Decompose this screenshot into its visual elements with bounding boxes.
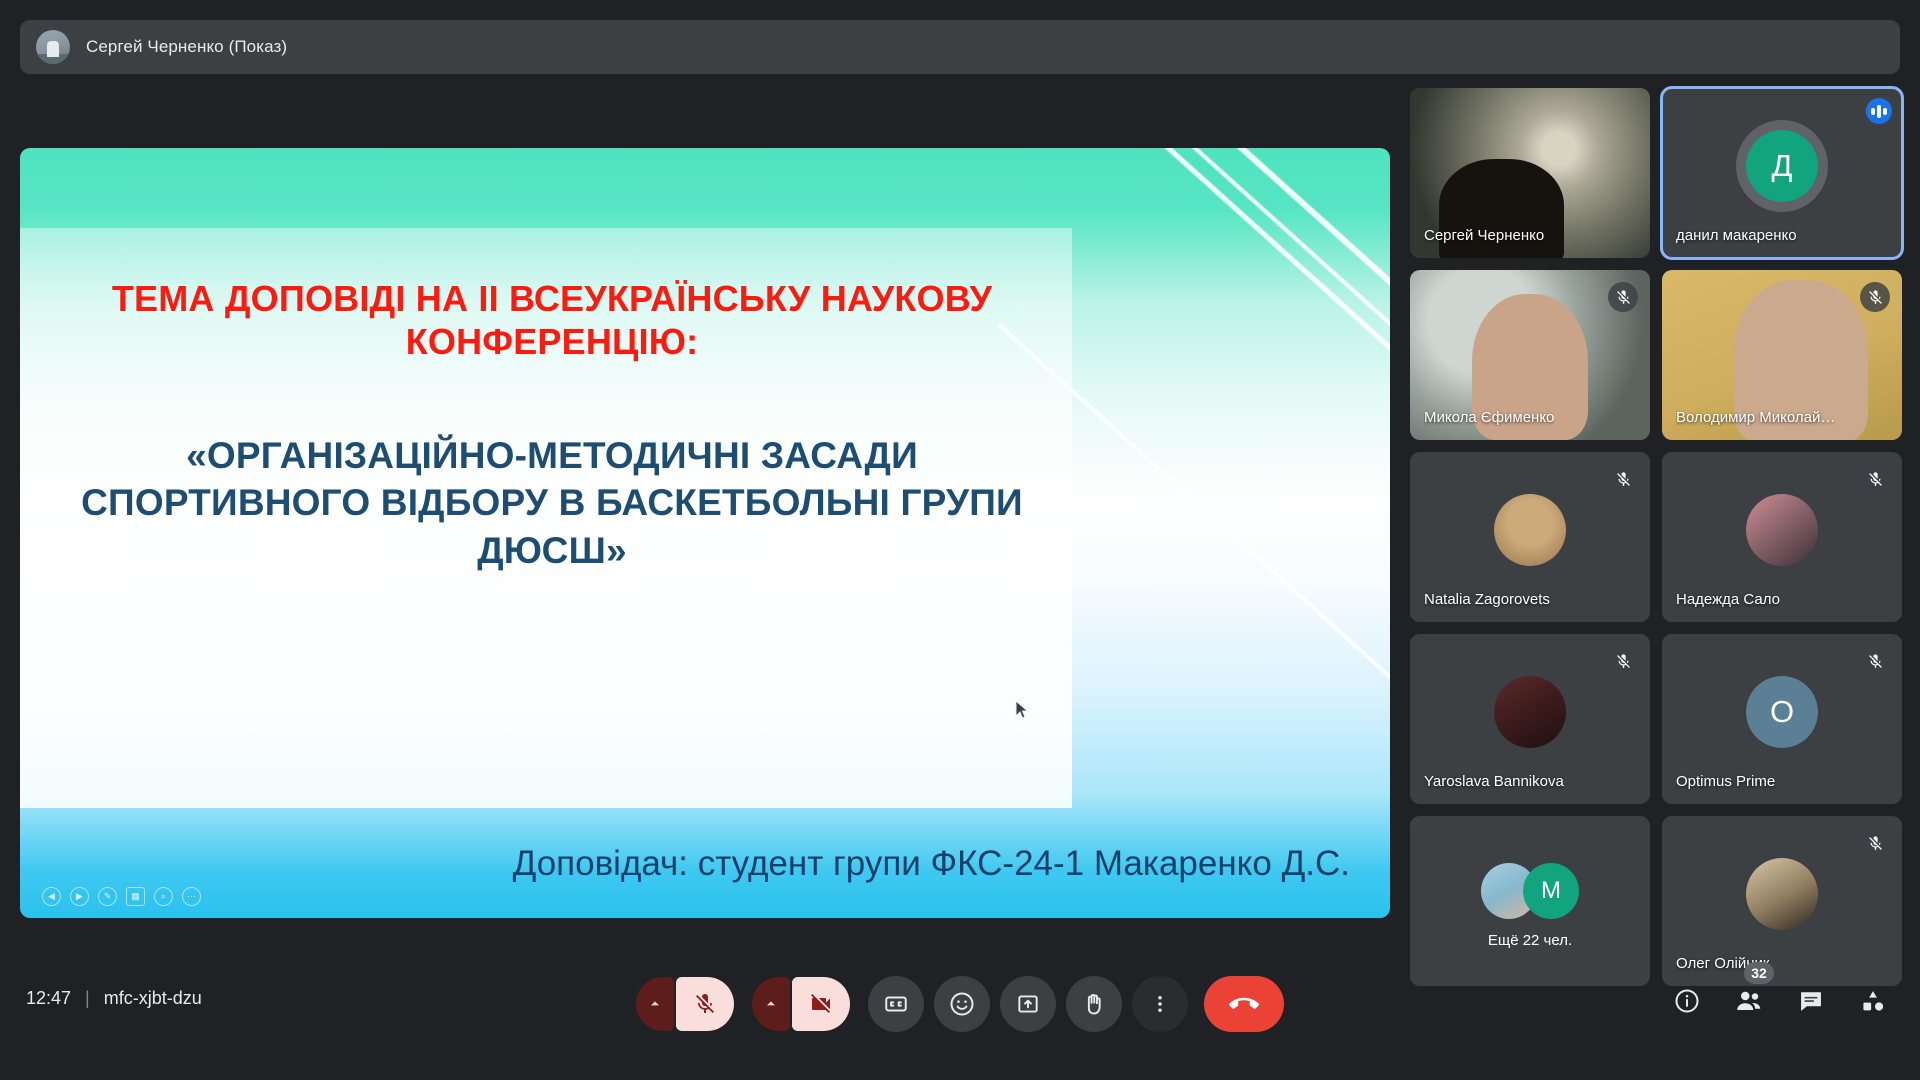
- avatar-initial: M: [1523, 863, 1579, 919]
- people-icon[interactable]: 32: [1732, 984, 1766, 1018]
- mouse-cursor-icon: [1015, 700, 1029, 720]
- end-call-button[interactable]: [1204, 976, 1284, 1032]
- camera-control-group: [752, 977, 850, 1031]
- avatar-stack: M: [1481, 863, 1579, 919]
- avatar: [1746, 494, 1818, 566]
- mic-off-icon: [1608, 646, 1638, 676]
- microphone-control-group: [636, 977, 734, 1031]
- mic-off-icon: [1860, 282, 1890, 312]
- reactions-button[interactable]: [934, 976, 990, 1032]
- more-options-button[interactable]: ⋯: [182, 887, 201, 906]
- call-controls: [636, 976, 1284, 1032]
- zoom-tool-button[interactable]: ⌕: [154, 887, 173, 906]
- participant-tile-active-speaker[interactable]: Д данил макаренко: [1662, 88, 1902, 258]
- shared-screen-stage[interactable]: ТЕМА ДОПОВІДІ НА II ВСЕУКРАЇНСЬКУ НАУКОВ…: [20, 148, 1390, 918]
- camera-options-chevron-icon[interactable]: [752, 977, 790, 1031]
- chat-icon[interactable]: [1794, 984, 1828, 1018]
- mic-options-chevron-icon[interactable]: [636, 977, 674, 1031]
- participant-name: Yaroslava Bannikova: [1424, 773, 1564, 790]
- presenting-label: Сергей Черненко (Показ): [86, 37, 287, 57]
- participant-name: Микола Єфименко: [1424, 409, 1554, 426]
- participant-name: данил макаренко: [1676, 227, 1797, 244]
- avatar-initial: O: [1746, 676, 1818, 748]
- captions-button[interactable]: [868, 976, 924, 1032]
- next-slide-button[interactable]: ▶: [70, 887, 89, 906]
- slide-title-navy: «ОРГАНІЗАЦІЙНО-МЕТОДИЧНІ ЗАСАДИ СПОРТИВН…: [62, 432, 1042, 574]
- participant-tile[interactable]: O Optimus Prime: [1662, 634, 1902, 804]
- participant-grid: Сергей Черненко Д данил макаренко Микола…: [1410, 88, 1902, 986]
- google-meet-window: Сергей Черненко (Показ) ТЕМА ДОПОВІДІ НА…: [0, 0, 1920, 1080]
- participant-tile[interactable]: Сергей Черненко: [1410, 88, 1650, 258]
- participant-tile[interactable]: Natalia Zagorovets: [1410, 452, 1650, 622]
- presentation-slide: ТЕМА ДОПОВІДІ НА II ВСЕУКРАЇНСЬКУ НАУКОВ…: [20, 148, 1390, 918]
- participant-name: Optimus Prime: [1676, 773, 1775, 790]
- avatar-initial: Д: [1746, 130, 1818, 202]
- prev-slide-button[interactable]: ◀: [42, 887, 61, 906]
- participant-name: Natalia Zagorovets: [1424, 591, 1550, 608]
- participant-name: Володимир Миколай…: [1676, 409, 1835, 426]
- present-screen-button[interactable]: [1000, 976, 1056, 1032]
- meeting-code-label: mfc-xjbt-dzu: [104, 988, 202, 1009]
- participant-tile[interactable]: Yaroslava Bannikova: [1410, 634, 1650, 804]
- camera-toggle-button[interactable]: [792, 977, 850, 1031]
- participant-tile[interactable]: Микола Єфименко: [1410, 270, 1650, 440]
- all-slides-button[interactable]: ▦: [126, 887, 145, 906]
- participant-tile[interactable]: Володимир Миколай…: [1662, 270, 1902, 440]
- participant-name: Сергей Черненко: [1424, 227, 1544, 244]
- avatar: [1746, 858, 1818, 930]
- clock-label: 12:47: [26, 988, 71, 1009]
- mic-off-icon: [1860, 646, 1890, 676]
- participant-name: Надежда Сало: [1676, 591, 1780, 608]
- separator: |: [85, 988, 90, 1009]
- bottom-bar: 12:47 | mfc-xjbt-dzu: [0, 940, 1920, 1080]
- participant-tile[interactable]: Надежда Сало: [1662, 452, 1902, 622]
- presenting-banner: Сергей Черненко (Показ): [20, 20, 1900, 74]
- speaking-indicator-icon: [1866, 98, 1892, 124]
- more-options-button[interactable]: [1132, 976, 1188, 1032]
- mic-off-icon: [1608, 282, 1638, 312]
- slide-presenter-line: Доповідач: студент групи ФКС-24-1 Макаре…: [170, 843, 1350, 885]
- mic-off-icon: [1608, 464, 1638, 494]
- meeting-info: 12:47 | mfc-xjbt-dzu: [26, 988, 202, 1009]
- powerpoint-slideshow-controls[interactable]: ◀ ▶ ✎ ▦ ⌕ ⋯: [42, 887, 201, 906]
- presenter-avatar: [36, 30, 70, 64]
- raise-hand-button[interactable]: [1066, 976, 1122, 1032]
- slide-title-red: ТЕМА ДОПОВІДІ НА II ВСЕУКРАЇНСЬКУ НАУКОВ…: [62, 278, 1042, 364]
- avatar: [1494, 494, 1566, 566]
- right-side-icons: 32: [1670, 984, 1890, 1018]
- mic-off-icon: [1860, 464, 1890, 494]
- mic-off-icon: [1860, 828, 1890, 858]
- avatar: [1494, 676, 1566, 748]
- participant-count-badge: 32: [1744, 962, 1774, 984]
- pen-tool-button[interactable]: ✎: [98, 887, 117, 906]
- meeting-details-icon[interactable]: [1670, 984, 1704, 1018]
- microphone-toggle-button[interactable]: [676, 977, 734, 1031]
- activities-icon[interactable]: [1856, 984, 1890, 1018]
